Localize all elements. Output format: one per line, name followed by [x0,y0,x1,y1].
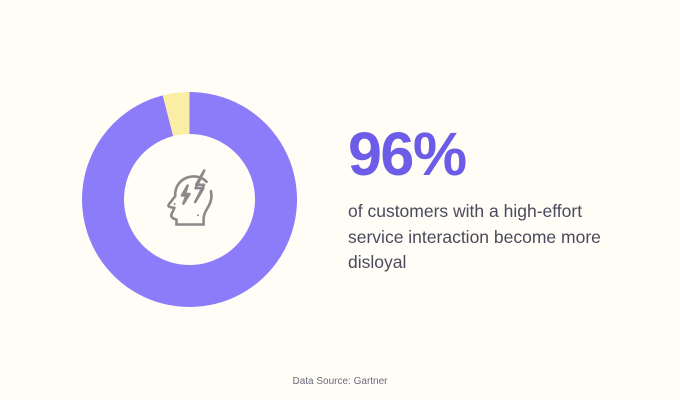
stat-value: 96% [348,122,648,186]
head-back-path [203,191,211,224]
eye-dot [173,203,175,205]
stressed-head-icon-svg [154,164,226,236]
stat-description: of customers with a high-effort service … [348,186,630,276]
lightning-bolt-large-path [195,170,204,202]
stressed-head-icon [154,164,226,236]
stat-text-block: 96% of customers with a high-effort serv… [348,122,648,276]
infographic-canvas: 96% of customers with a high-effort serv… [0,0,680,400]
lightning-bolt-small-path [182,185,189,203]
donut-chart [82,92,297,307]
ear-dot [197,214,199,216]
data-source-caption: Data Source: Gartner [0,375,680,389]
